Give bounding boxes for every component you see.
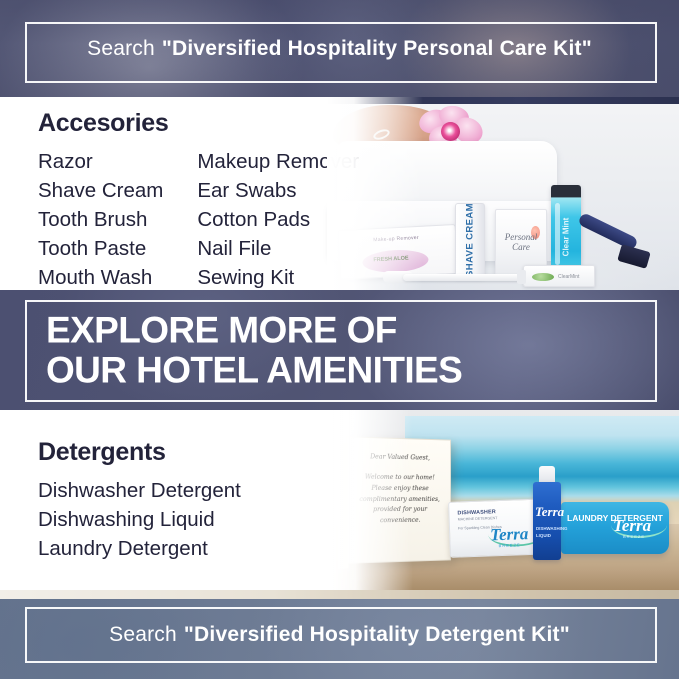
list-item: Laundry Detergent [38,534,241,563]
terra-brand-sublabel: BREEZE [623,534,645,539]
top-search-banner: Search "Diversified Hospitality Personal… [0,0,679,97]
bottom-banner-lead: Search [109,623,177,647]
shave-cream-tube: SHAVE CREAM [455,203,485,277]
list-item: Tooth Paste [38,234,163,263]
top-banner-lead: Search [87,37,155,61]
dishwashing-liquid-label: DISHWASHING LIQUID [536,526,567,539]
shave-cream-label: SHAVE CREAM [465,203,476,277]
toothpaste-tube: ClearMint [523,265,595,287]
soap-label: Personal Care [496,232,546,252]
accessories-section: Make-up Remover FRESH ALOE SHAVE CREAM P… [0,97,679,290]
list-item: Shave Cream [38,176,163,205]
headline-line-1: EXPLORE MORE OF [46,310,462,350]
list-item: Razor [38,147,163,176]
amenities-headline: EXPLORE MORE OF OUR HOTEL AMENITIES [46,310,462,389]
accessories-text-column: Accesories Razor Shave Cream Tooth Brush… [38,109,359,290]
toothpaste-logo-graphic [532,273,554,281]
accessories-title: Accesories [38,109,359,138]
headline-line-2: OUR HOTEL AMENITIES [46,350,462,390]
detergents-title: Detergents [38,438,241,467]
photo-left-fade [327,97,423,290]
detergent-kit-photo: Dear Valued Guest, Welcome to our home! … [333,410,679,590]
top-banner-text: Search "Diversified Hospitality Personal… [0,0,679,97]
terra-brand-logo: Terra [613,516,651,536]
terra-brand-sublabel: BREEZE [499,542,521,548]
detergents-lists: Dishwasher Detergent Dishwashing Liquid … [38,476,241,563]
toothpaste-label: ClearMint [558,274,579,280]
terra-brand-logo: Terra [535,504,564,520]
liquid-bottle-cap [539,466,555,483]
amenities-headline-banner: EXPLORE MORE OF OUR HOTEL AMENITIES [0,290,679,410]
photo-left-fade [333,410,413,590]
list-item: Dishwashing Liquid [38,505,241,534]
bottom-search-banner: Search "Diversified Hospitality Detergen… [0,590,679,679]
bottom-banner-text: Search "Diversified Hospitality Detergen… [0,590,679,679]
list-item: Tooth Brush [38,205,163,234]
accessories-list-column-1: Razor Shave Cream Tooth Brush Tooth Past… [38,147,163,290]
bottom-banner-query: "Diversified Hospitality Detergent Kit" [184,623,570,647]
personal-care-kit-photo: Make-up Remover FRESH ALOE SHAVE CREAM P… [327,97,679,290]
toothpaste-cap [517,270,526,284]
liquid-bottle-body: Terra DISHWASHING LIQUID [533,482,561,560]
list-item: Mouth Wash [38,263,163,290]
accessories-lists: Razor Shave Cream Tooth Brush Tooth Past… [38,147,359,290]
dishwashing-liquid-bottle: Terra DISHWASHING LIQUID [533,466,561,560]
list-item: Dishwasher Detergent [38,476,241,505]
bottle-highlight [555,203,560,265]
razor-head [617,244,651,269]
detergents-list: Dishwasher Detergent Dishwashing Liquid … [38,476,241,563]
laundry-detergent-packet: LAUNDRY DETERGENT Terra BREEZE [561,502,669,554]
top-banner-query: "Diversified Hospitality Personal Care K… [162,37,592,61]
mouthwash-label: Clear Mint [562,217,571,256]
detergents-text-column: Detergents Dishwasher Detergent Dishwash… [38,438,241,563]
razor-handle [577,212,638,251]
infographic-page: Search "Diversified Hospitality Personal… [0,0,679,679]
detergents-section: Dear Valued Guest, Welcome to our home! … [0,410,679,590]
